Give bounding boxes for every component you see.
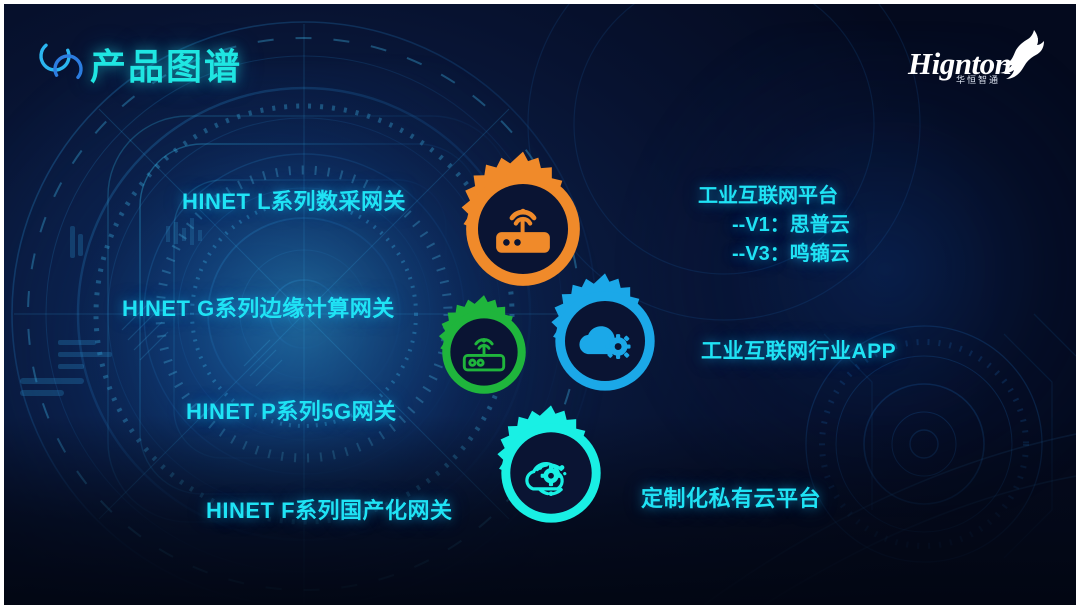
two-circles-logo-icon <box>32 36 88 88</box>
brand-logo: Hignton 华恒智通 <box>908 26 1048 88</box>
brand-chinese-name: 华恒智通 <box>956 73 1000 86</box>
label-hinet-l-series: HINET L系列数采网关 <box>182 184 406 216</box>
label-hinet-p-series: HINET P系列5G网关 <box>186 394 397 426</box>
gear-cyan-private-cloud[interactable] <box>482 404 620 542</box>
label-hinet-g-series: HINET G系列边缘计算网关 <box>122 291 395 323</box>
gear-orange-data-gateway[interactable] <box>444 150 602 308</box>
gear-green-edge-gateway[interactable] <box>426 294 542 410</box>
platform-version-v3: --V3：鸣镝云 <box>698 240 850 269</box>
platform-version-v1: --V1：思普云 <box>698 211 850 240</box>
label-industrial-app: 工业互联网行业APP <box>701 335 896 365</box>
platform-heading: 工业互联网平台 <box>698 182 850 211</box>
label-hinet-f-series: HINET F系列国产化网关 <box>206 493 453 525</box>
label-industrial-platform-group: 工业互联网平台 --V1：思普云 --V3：鸣镝云 <box>698 182 850 269</box>
label-private-cloud: 定制化私有云平台 <box>641 481 821 513</box>
slide-canvas: 产品图谱 Hignton 华恒智通 <box>0 0 1080 609</box>
page-title: 产品图谱 <box>90 38 242 90</box>
slide-header: 产品图谱 Hignton 华恒智通 <box>4 4 1076 114</box>
